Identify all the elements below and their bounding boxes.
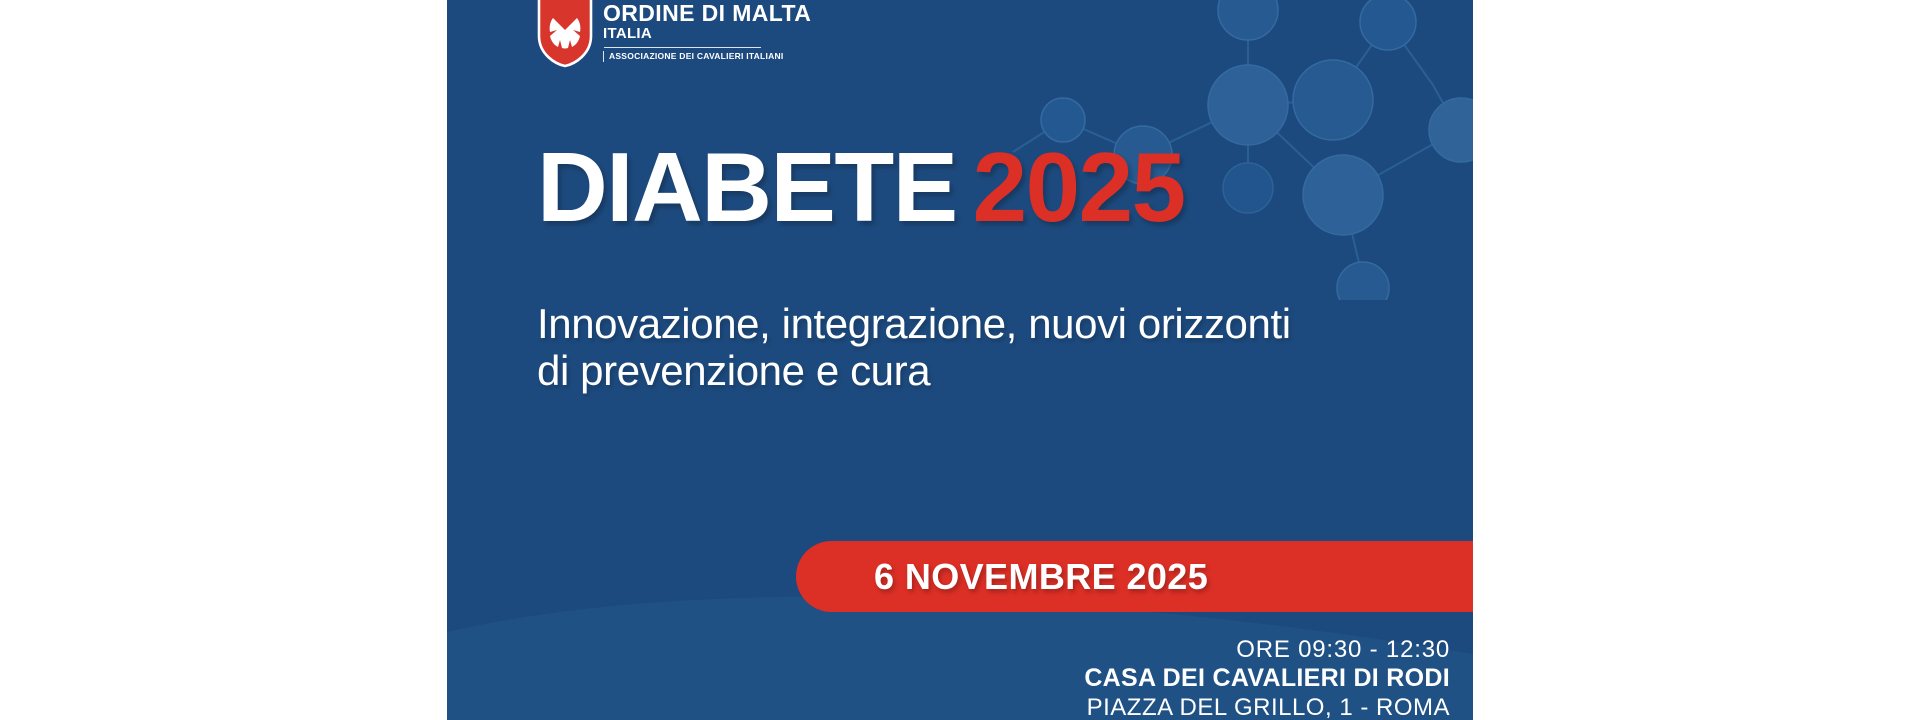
event-venue-block: ORE 09:30 - 12:30 CASA DEI CAVALIERI DI … <box>1084 636 1450 720</box>
event-venue-address: PIAZZA DEL GRILLO, 1 - ROMA <box>1084 694 1450 720</box>
headline-main-word: DIABETE <box>537 132 957 242</box>
event-date-label: 6 NOVEMBRE 2025 <box>874 556 1208 598</box>
poster-blue-panel: ORDINE DI MALTA ITALIA ASSOCIAZIONE DEI … <box>447 0 1473 720</box>
event-time: ORE 09:30 - 12:30 <box>1084 636 1450 664</box>
poster-subtitle: Innovazione, integrazione, nuovi orizzon… <box>537 300 1237 394</box>
maltese-cross-shield-icon <box>537 0 593 68</box>
headline-year: 2025 <box>973 132 1185 242</box>
logo-divider-rule <box>604 47 761 48</box>
logo-country: ITALIA <box>603 25 811 42</box>
logo-org-name: ORDINE DI MALTA <box>603 2 811 25</box>
poster-canvas: ORDINE DI MALTA ITALIA ASSOCIAZIONE DEI … <box>0 0 1920 720</box>
event-date-banner: 6 NOVEMBRE 2025 <box>796 541 1473 612</box>
subtitle-line-2: di prevenzione e cura <box>537 347 1237 394</box>
subtitle-line-1: Innovazione, integrazione, nuovi orizzon… <box>537 300 1237 347</box>
organization-logo: ORDINE DI MALTA ITALIA ASSOCIAZIONE DEI … <box>537 0 811 68</box>
logo-tagline-wrap: ASSOCIAZIONE DEI CAVALIERI ITALIANI <box>603 51 811 62</box>
logo-tick-mark <box>603 51 604 62</box>
logo-text-block: ORDINE DI MALTA ITALIA ASSOCIAZIONE DEI … <box>603 0 811 62</box>
event-venue-name: CASA DEI CAVALIERI DI RODI <box>1084 664 1450 694</box>
poster-headline: DIABETE2025 <box>537 138 1185 236</box>
logo-tagline: ASSOCIAZIONE DEI CAVALIERI ITALIANI <box>609 51 784 62</box>
